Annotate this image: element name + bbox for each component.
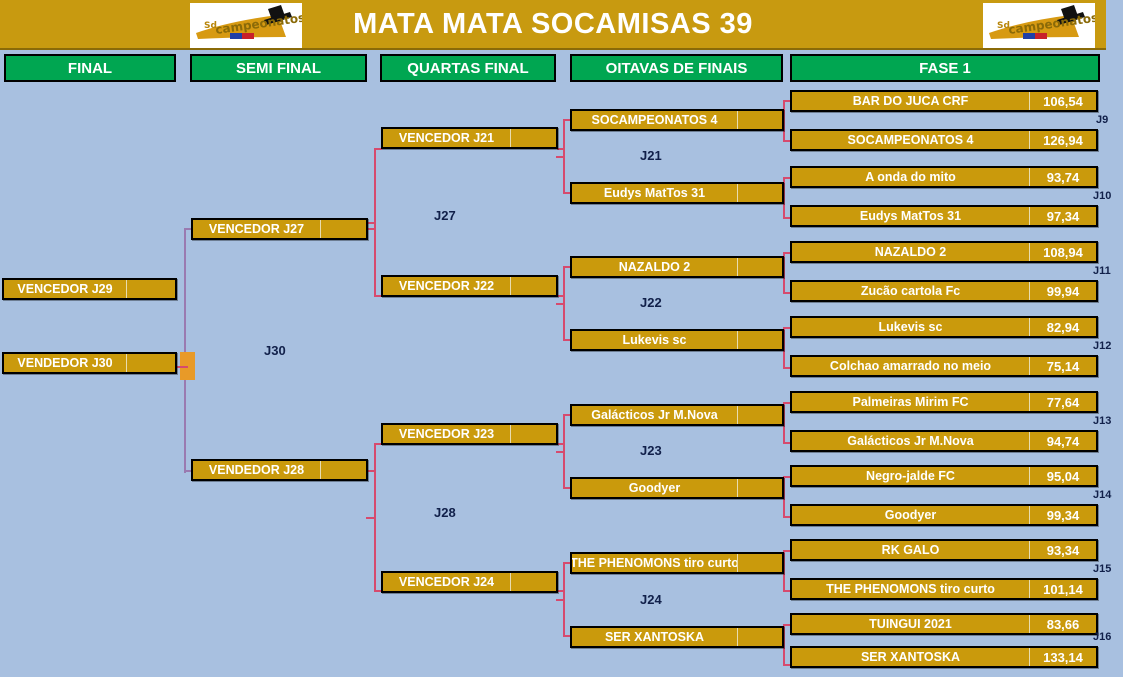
- team-name: VENCEDOR J22: [383, 277, 510, 295]
- match-code-label: J11: [1093, 265, 1111, 277]
- round-header-oitavas-label: OITAVAS DE FINAIS: [606, 60, 748, 77]
- team-name: Goodyer: [572, 479, 737, 497]
- team-name: Galácticos Jr M.Nova: [792, 432, 1029, 450]
- team-name: Palmeiras Mirim FC: [792, 393, 1029, 411]
- connector: [557, 295, 565, 297]
- team-name: NAZALDO 2: [792, 243, 1029, 261]
- team-score: [737, 184, 782, 202]
- sd-campeonatos-logo-right-icon: Sd campeonatos: [983, 3, 1095, 48]
- match-code-label: J28: [434, 505, 456, 520]
- match-code-label: J27: [434, 208, 456, 223]
- match-code-label: J12: [1093, 340, 1111, 352]
- team-name: SOCAMPEONATOS 4: [572, 111, 737, 129]
- team-name: VENCEDOR J23: [383, 425, 510, 443]
- team-name: THE PHENOMONS tiro curto: [572, 554, 737, 572]
- team-box[interactable]: SOCAMPEONATOS 4 126,94: [790, 129, 1098, 151]
- team-score: [737, 554, 782, 572]
- round-header-fase1-label: FASE 1: [919, 60, 971, 77]
- connector: [184, 228, 186, 473]
- team-score: 99,34: [1029, 506, 1096, 524]
- team-name: SOCAMPEONATOS 4: [792, 131, 1029, 149]
- team-name: VENCEDOR J29: [4, 280, 126, 298]
- team-box[interactable]: VENCEDOR J23: [381, 423, 558, 445]
- team-box[interactable]: THE PHENOMONS tiro curto: [570, 552, 784, 574]
- team-box[interactable]: Lukevis sc: [570, 329, 784, 351]
- team-box[interactable]: Palmeiras Mirim FC 77,64: [790, 391, 1098, 413]
- team-score: 95,04: [1029, 467, 1096, 485]
- team-score: [510, 129, 556, 147]
- team-box[interactable]: Colchao amarrado no meio 75,14: [790, 355, 1098, 377]
- team-box[interactable]: VENCEDOR J21: [381, 127, 558, 149]
- team-score: 93,74: [1029, 168, 1096, 186]
- match-code-label: J30: [264, 343, 286, 358]
- round-header-quartas-final-label: QUARTAS FINAL: [407, 60, 528, 77]
- team-score: [320, 461, 366, 479]
- team-box[interactable]: VENDEDOR J28: [191, 459, 368, 481]
- team-box[interactable]: VENCEDOR J24: [381, 571, 558, 593]
- team-score: 75,14: [1029, 357, 1096, 375]
- team-name: BAR DO JUCA CRF: [792, 92, 1029, 110]
- match-code-label: J24: [640, 592, 662, 607]
- team-score: [737, 406, 782, 424]
- round-header-final[interactable]: FINAL: [4, 54, 176, 82]
- team-score: 133,14: [1029, 648, 1096, 666]
- team-box[interactable]: THE PHENOMONS tiro curto 101,14: [790, 578, 1098, 600]
- title-bar: MATA MATA SOCAMISAS 39: [0, 0, 1106, 50]
- team-name: Zucão cartola Fc: [792, 282, 1029, 300]
- team-score: 77,64: [1029, 393, 1096, 411]
- team-score: 83,66: [1029, 615, 1096, 633]
- team-name: Lukevis sc: [572, 331, 737, 349]
- team-score: [510, 425, 556, 443]
- round-header-semi-final[interactable]: SEMI FINAL: [190, 54, 367, 82]
- team-box[interactable]: NAZALDO 2: [570, 256, 784, 278]
- connector: [557, 148, 565, 150]
- team-box[interactable]: Zucão cartola Fc 99,94: [790, 280, 1098, 302]
- team-box[interactable]: Goodyer 99,34: [790, 504, 1098, 526]
- team-score: [126, 354, 175, 372]
- round-header-quartas-final[interactable]: QUARTAS FINAL: [380, 54, 556, 82]
- team-name: TUINGUI 2021: [792, 615, 1029, 633]
- team-score: [737, 628, 782, 646]
- team-box[interactable]: NAZALDO 2 108,94: [790, 241, 1098, 263]
- match-code-label: J21: [640, 148, 662, 163]
- team-name: VENCEDOR J24: [383, 573, 510, 591]
- team-box[interactable]: RK GALO 93,34: [790, 539, 1098, 561]
- connector: [366, 517, 375, 519]
- connector: [367, 228, 376, 230]
- team-score: [737, 111, 782, 129]
- round-header-fase-1[interactable]: FASE 1: [790, 54, 1100, 82]
- match-code-label: J22: [640, 295, 662, 310]
- team-box[interactable]: TUINGUI 2021 83,66: [790, 613, 1098, 635]
- connector: [557, 590, 565, 592]
- team-name: Colchao amarrado no meio: [792, 357, 1029, 375]
- connector: [557, 443, 565, 445]
- team-name: NAZALDO 2: [572, 258, 737, 276]
- team-box[interactable]: Galácticos Jr M.Nova 94,74: [790, 430, 1098, 452]
- team-name: Galácticos Jr M.Nova: [572, 406, 737, 424]
- match-code-label: J16: [1093, 631, 1111, 643]
- page-title: MATA MATA SOCAMISAS 39: [353, 8, 753, 41]
- match-code-label: J10: [1093, 190, 1111, 202]
- bracket-page: MATA MATA SOCAMISAS 39 Sd campeonatos Sd…: [0, 0, 1123, 677]
- team-name: RK GALO: [792, 541, 1029, 559]
- team-box[interactable]: Goodyer: [570, 477, 784, 499]
- match-code-label: J9: [1096, 114, 1108, 126]
- team-box[interactable]: Lukevis sc 82,94: [790, 316, 1098, 338]
- team-name: VENDEDOR J30: [4, 354, 126, 372]
- team-score: [126, 280, 175, 298]
- team-score: 108,94: [1029, 243, 1096, 261]
- connector: [556, 451, 564, 453]
- round-header-final-label: FINAL: [68, 60, 112, 77]
- team-box[interactable]: BAR DO JUCA CRF 106,54: [790, 90, 1098, 112]
- team-name: VENDEDOR J28: [193, 461, 320, 479]
- team-box[interactable]: SOCAMPEONATOS 4: [570, 109, 784, 131]
- match-code-label: J23: [640, 443, 662, 458]
- round-header-semi-final-label: SEMI FINAL: [236, 60, 321, 77]
- team-box[interactable]: SER XANTOSKA 133,14: [790, 646, 1098, 668]
- team-score: 106,54: [1029, 92, 1096, 110]
- team-score: 99,94: [1029, 282, 1096, 300]
- round-header-oitavas-de-finais[interactable]: OITAVAS DE FINAIS: [570, 54, 783, 82]
- team-score: [320, 220, 366, 238]
- team-box[interactable]: Eudys MatTos 31: [570, 182, 784, 204]
- team-box[interactable]: VENCEDOR J29: [2, 278, 177, 300]
- team-score: 82,94: [1029, 318, 1096, 336]
- team-name: Eudys MatTos 31: [792, 207, 1029, 225]
- team-box[interactable]: Negro-jalde FC 95,04: [790, 465, 1098, 487]
- team-score: 93,34: [1029, 541, 1096, 559]
- team-score: [510, 277, 556, 295]
- connector: [556, 303, 564, 305]
- team-name: A onda do mito: [792, 168, 1029, 186]
- match-code-label: J13: [1093, 415, 1111, 427]
- match-code-label: J15: [1093, 563, 1111, 575]
- team-name: THE PHENOMONS tiro curto: [792, 580, 1029, 598]
- team-box[interactable]: VENCEDOR J22: [381, 275, 558, 297]
- team-box[interactable]: SER XANTOSKA: [570, 626, 784, 648]
- team-name: VENCEDOR J27: [193, 220, 320, 238]
- team-box[interactable]: VENCEDOR J27: [191, 218, 368, 240]
- connector: [176, 366, 188, 368]
- connector: [367, 470, 376, 472]
- sd-campeonatos-logo-left-icon: Sd campeonatos: [190, 3, 302, 48]
- team-name: SER XANTOSKA: [792, 648, 1029, 666]
- team-score: [510, 573, 556, 591]
- team-score: [737, 258, 782, 276]
- team-name: Lukevis sc: [792, 318, 1029, 336]
- team-score: 126,94: [1029, 131, 1096, 149]
- team-name: Eudys MatTos 31: [572, 184, 737, 202]
- team-box[interactable]: Eudys MatTos 31 97,34: [790, 205, 1098, 227]
- team-box[interactable]: VENDEDOR J30: [2, 352, 177, 374]
- team-name: VENCEDOR J21: [383, 129, 510, 147]
- team-score: 97,34: [1029, 207, 1096, 225]
- team-score: [737, 331, 782, 349]
- team-box[interactable]: Galácticos Jr M.Nova: [570, 404, 784, 426]
- team-score: 94,74: [1029, 432, 1096, 450]
- team-name: SER XANTOSKA: [572, 628, 737, 646]
- connector: [556, 599, 564, 601]
- team-name: Negro-jalde FC: [792, 467, 1029, 485]
- match-code-label: J14: [1093, 489, 1111, 501]
- team-score: [737, 479, 782, 497]
- team-box[interactable]: A onda do mito 93,74: [790, 166, 1098, 188]
- connector: [556, 156, 564, 158]
- team-name: Goodyer: [792, 506, 1029, 524]
- team-score: 101,14: [1029, 580, 1096, 598]
